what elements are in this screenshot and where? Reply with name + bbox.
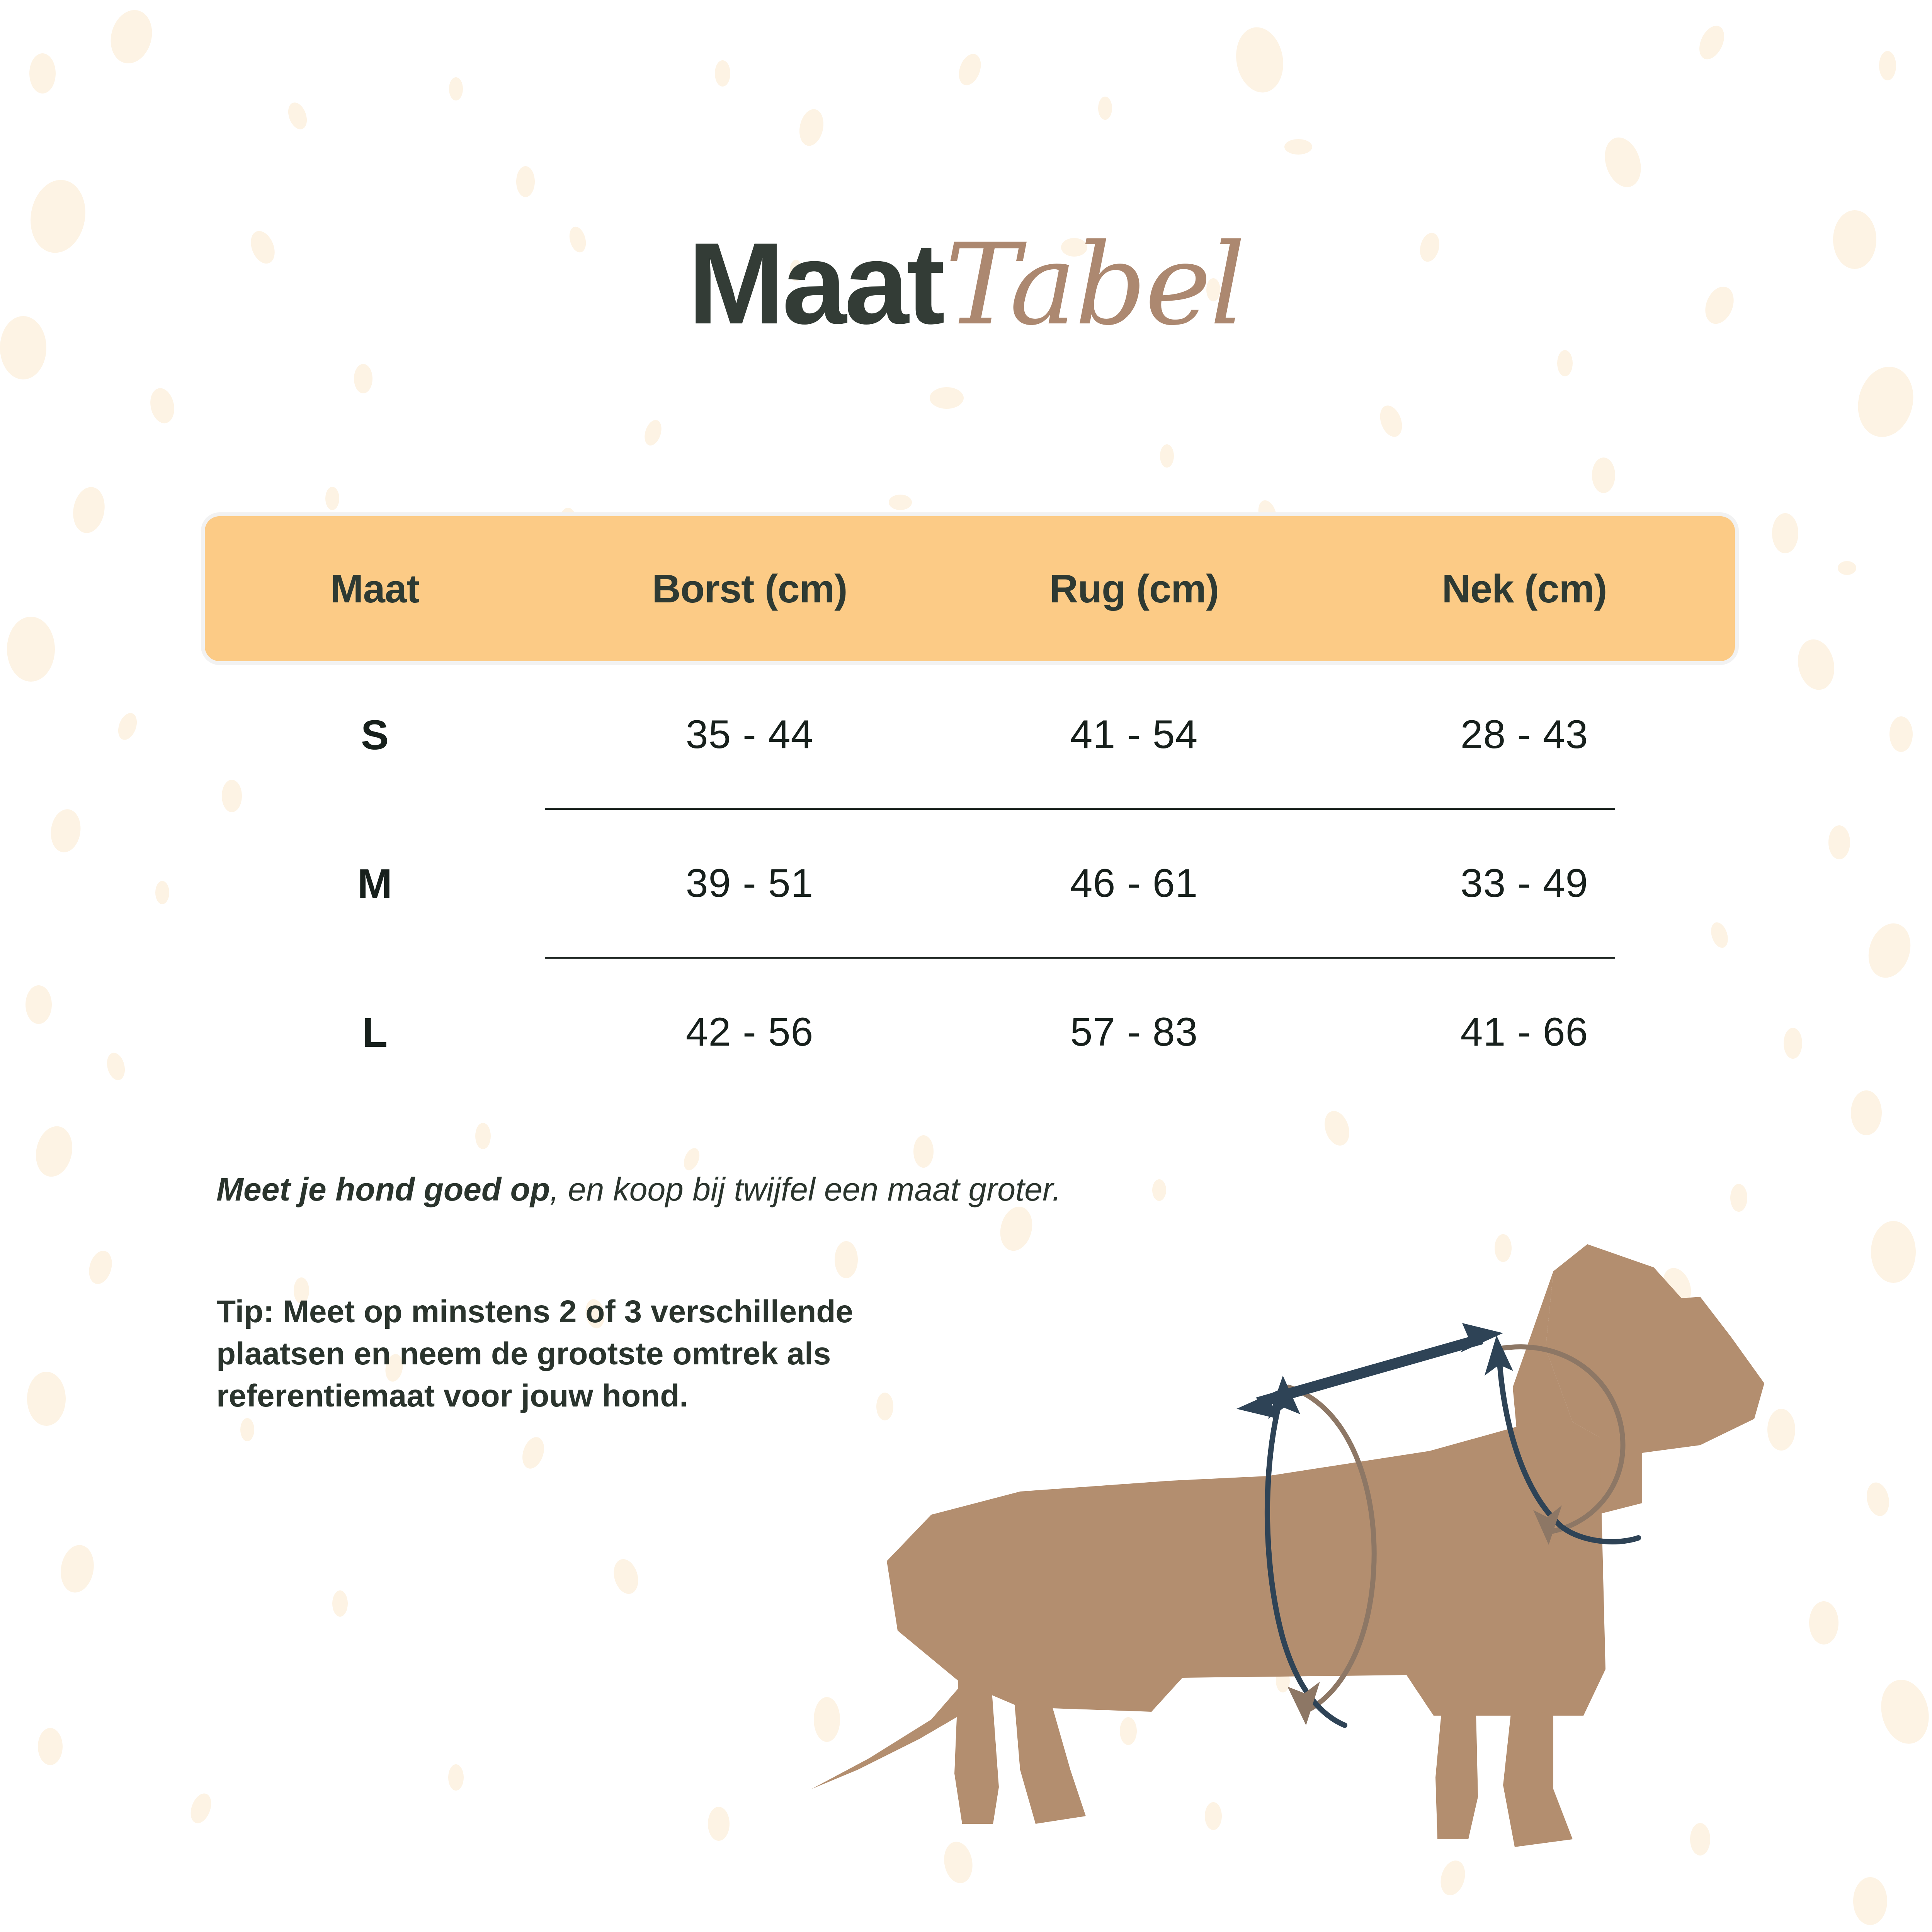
- cell-nek-value: 28 - 43: [1461, 712, 1588, 757]
- cell-size-value: M: [357, 860, 392, 907]
- table-header-row: Maat Borst (cm) Rug (cm) Nek (cm): [205, 516, 1735, 661]
- size-chart-page: MaatTabel Maat Borst (cm) Rug (cm) Nek (…: [0, 0, 1932, 1932]
- table-body: S 35 - 44 41 - 54 28 - 43 M 39: [205, 661, 1735, 1105]
- cell-rug-value: 57 - 83: [1070, 1010, 1198, 1054]
- table-row: L 42 - 56 57 - 83 41 - 66: [205, 959, 1735, 1105]
- cell-size: M: [205, 859, 545, 908]
- cell-rug: 57 - 83: [954, 1009, 1314, 1055]
- cell-borst: 42 - 56: [545, 1009, 954, 1055]
- table-row: M 39 - 51 46 - 61 33 - 49: [205, 810, 1735, 957]
- cell-borst-value: 35 - 44: [686, 712, 814, 757]
- dog-body-silhouette: [811, 1244, 1764, 1847]
- cell-rug-value: 46 - 61: [1070, 861, 1198, 906]
- cell-size-value: L: [362, 1009, 388, 1056]
- cell-rug: 41 - 54: [954, 712, 1314, 758]
- header-label-maat: Maat: [330, 566, 420, 611]
- measure-advice-note: Meet je hond goed op, en koop bij twijfe…: [216, 1171, 1061, 1208]
- table-header-cell-nek: Nek (cm): [1314, 566, 1735, 612]
- title-script-text: Tabel: [945, 220, 1244, 350]
- page-title: MaatTabel: [0, 216, 1932, 350]
- table-header-cell-maat: Maat: [205, 566, 545, 612]
- cell-size-value: S: [361, 711, 389, 758]
- cell-borst-value: 42 - 56: [686, 1010, 814, 1054]
- cell-size: L: [205, 1008, 545, 1056]
- cell-borst: 39 - 51: [545, 861, 954, 906]
- measure-advice-rest: , en koop bij twijfel een maat groter.: [550, 1171, 1061, 1207]
- table-header-cell-rug: Rug (cm): [954, 566, 1314, 612]
- cell-nek-value: 33 - 49: [1461, 861, 1588, 906]
- cell-borst-value: 39 - 51: [686, 861, 814, 906]
- header-label-nek: Nek (cm): [1442, 566, 1607, 611]
- cell-nek: 41 - 66: [1314, 1009, 1735, 1055]
- table-row: S 35 - 44 41 - 54 28 - 43: [205, 661, 1735, 808]
- header-label-rug: Rug (cm): [1049, 566, 1219, 611]
- measure-advice-emphasis: Meet je hond goed op: [216, 1171, 550, 1207]
- header-label-borst: Borst (cm): [652, 566, 847, 611]
- cell-rug: 46 - 61: [954, 861, 1314, 906]
- dog-measurement-illustration: [804, 1221, 1847, 1870]
- cell-nek: 33 - 49: [1314, 861, 1735, 906]
- table-header-cell-borst: Borst (cm): [545, 566, 954, 612]
- cell-rug-value: 41 - 54: [1070, 712, 1198, 757]
- cell-borst: 35 - 44: [545, 712, 954, 758]
- cell-nek-value: 41 - 66: [1461, 1010, 1588, 1054]
- title-main-text: Maat: [688, 218, 943, 348]
- size-table: Maat Borst (cm) Rug (cm) Nek (cm) S 35 -…: [205, 516, 1735, 1105]
- cell-size: S: [205, 711, 545, 759]
- cell-nek: 28 - 43: [1314, 712, 1735, 758]
